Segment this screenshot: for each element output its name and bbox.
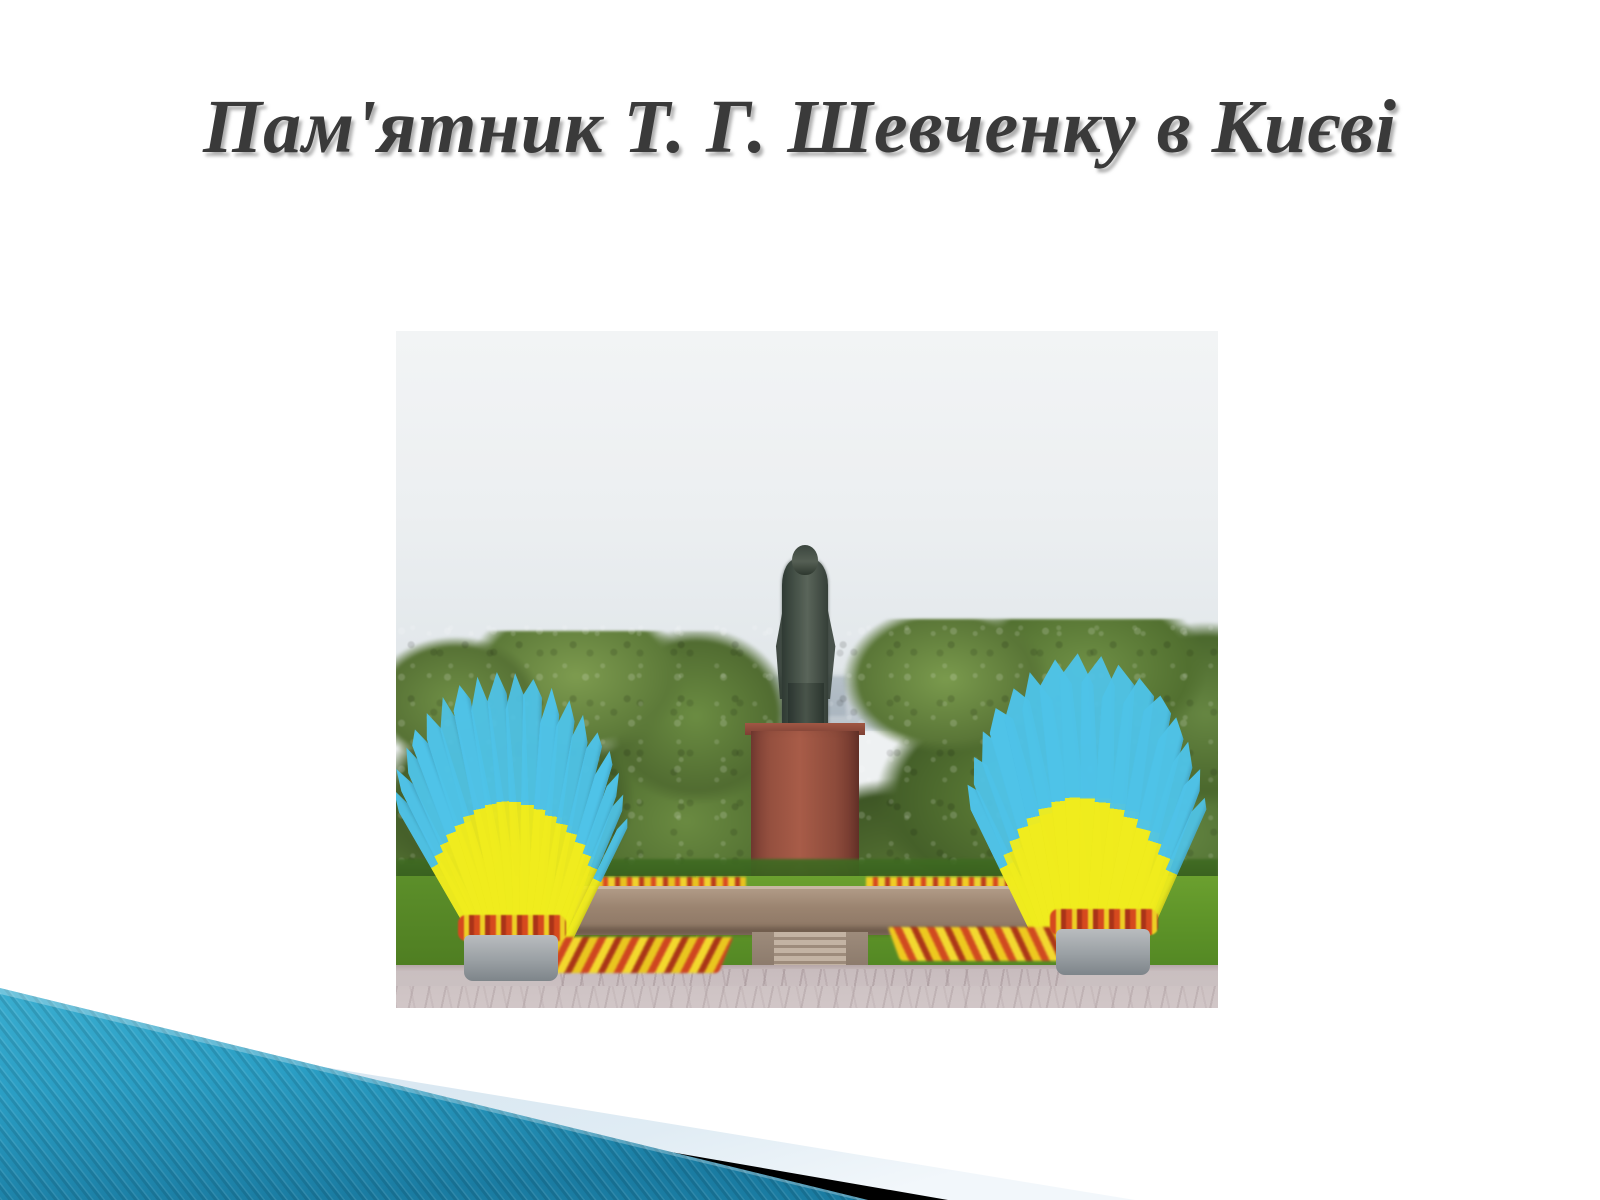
photo-statue-head — [792, 545, 818, 575]
slide-decoration — [0, 970, 1600, 1200]
page-title: Пам'ятник Т. Г. Шевченку в Києві — [0, 84, 1600, 171]
decoration-svg — [0, 970, 1600, 1200]
monument-photo — [396, 331, 1218, 1008]
presentation-slide: Пам'ятник Т. Г. Шевченку в Києві — [0, 0, 1600, 1200]
photo-planter-right — [1056, 929, 1150, 975]
photo-flag-cluster-right — [944, 631, 1218, 953]
photo-flag-cluster-left — [396, 653, 646, 953]
